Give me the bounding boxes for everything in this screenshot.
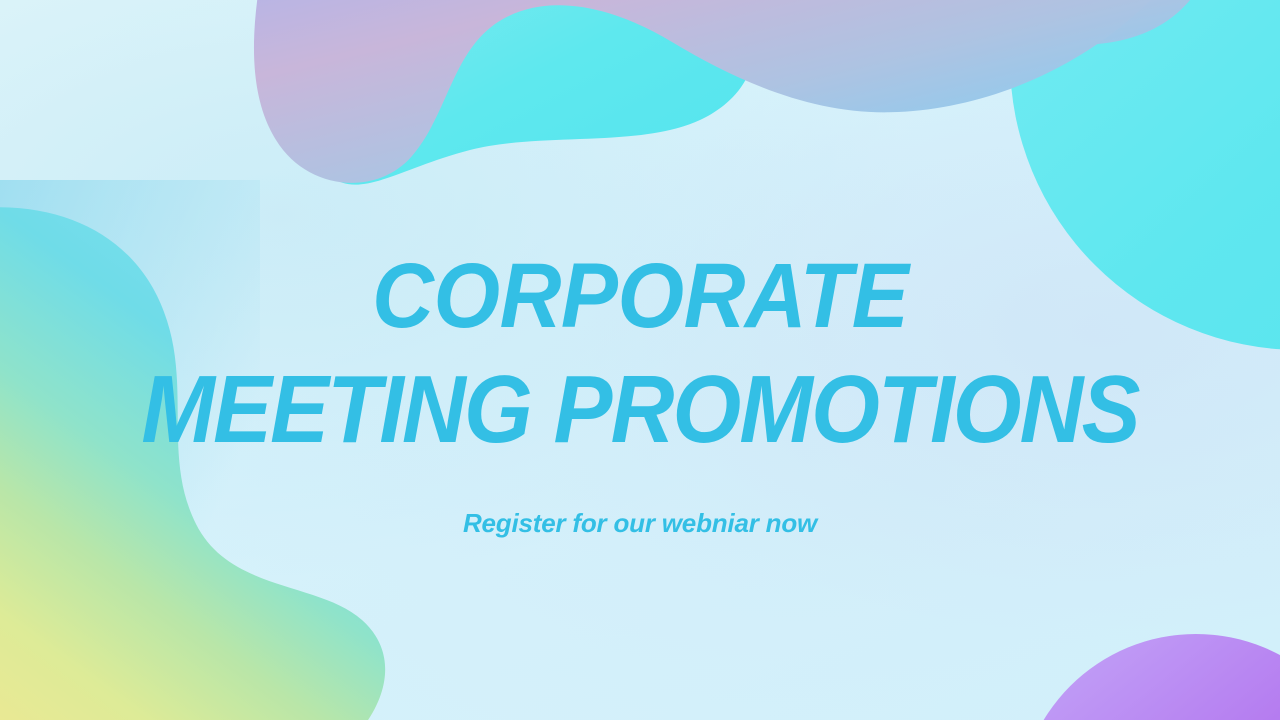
promotional-slide: CORPORATE MEETING PROMOTIONS Register fo… — [0, 0, 1280, 720]
slide-subtitle: Register for our webniar now — [463, 510, 817, 536]
page-title-line-2: MEETING PROMOTIONS — [141, 362, 1138, 458]
slide-content: CORPORATE MEETING PROMOTIONS Register fo… — [0, 0, 1280, 720]
page-title-line-1: CORPORATE — [372, 250, 908, 342]
